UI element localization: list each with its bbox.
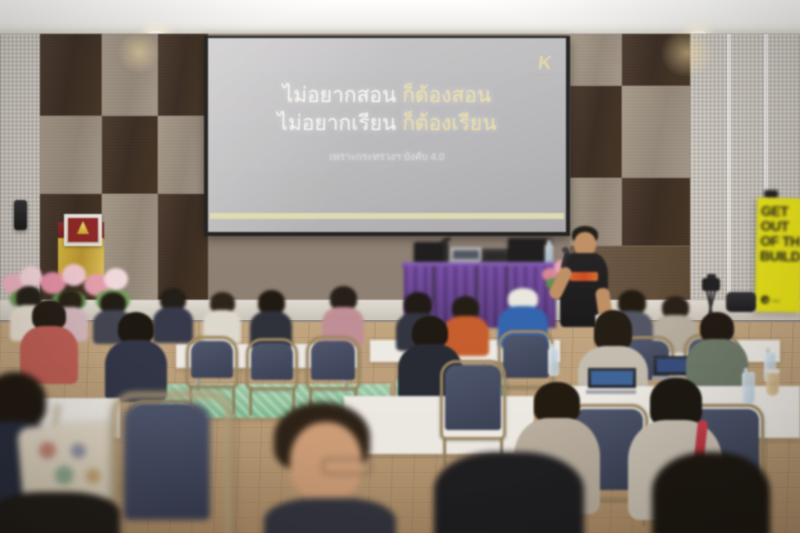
- wall-wood-panel: [158, 194, 208, 300]
- stage-monitor-left: [414, 242, 448, 264]
- wall-wood-panel: [40, 116, 102, 194]
- wall-wood-panel: [622, 178, 690, 246]
- banner-logo: lean: [761, 296, 781, 304]
- video-camera-icon: [702, 278, 720, 291]
- banquet-chair: [306, 336, 360, 390]
- flower: [104, 268, 128, 290]
- slide-headline-1-white: ไม่อยากสอน: [283, 84, 397, 107]
- slide-headline-2-white: ไม่อยากเรียน: [277, 112, 396, 135]
- chair-pad: [251, 343, 293, 380]
- chair-leg: [232, 386, 235, 414]
- gooseneck-mic-stand: [444, 240, 446, 264]
- wall-wood-panel: [570, 86, 622, 178]
- wall-wood-panel: [158, 34, 208, 116]
- banquet-chair: [498, 330, 554, 388]
- wall-wood-panel: [622, 86, 690, 178]
- banquet-chair: [186, 336, 238, 388]
- wall-light-glow: [118, 30, 160, 74]
- attendee-foreground-shoulder: [434, 452, 584, 533]
- attendee-hair: [700, 312, 734, 342]
- chair-pad: [503, 335, 549, 378]
- slide-headline-block: ไม่อยากสอน ก็ต้องสอน ไม่อยากเรียน ก็ต้อง…: [208, 82, 566, 138]
- laptop-lid: [450, 247, 482, 262]
- attendee-foreground-mass: [0, 492, 120, 533]
- presenter-shirt-logo: [570, 272, 598, 281]
- banquet-chair: [246, 338, 298, 390]
- wall-wood-panel: [570, 34, 622, 86]
- microphone-head: [562, 247, 569, 253]
- wall-wood-panel: [102, 116, 158, 194]
- projection-screen: K KUMPUN ไม่อยากสอน ก็ต้องสอน ไม่อยากเรี…: [208, 38, 566, 232]
- flower: [20, 266, 42, 288]
- slide-headline-line-1: ไม่อยากสอน ก็ต้องสอน: [208, 82, 566, 110]
- foreground-chair-pad: [124, 404, 210, 520]
- chair-pad: [445, 365, 501, 430]
- slide-accent-bar: [210, 213, 564, 219]
- attendee-hair-long: [594, 310, 632, 350]
- laptop-base: [586, 390, 636, 394]
- chair-leg: [443, 438, 446, 466]
- cable: [432, 266, 452, 308]
- royal-portrait-frame: [64, 214, 102, 246]
- laptop-screen: [453, 250, 479, 259]
- water-bottle: [548, 348, 559, 376]
- attendee-laptop: [588, 368, 634, 394]
- eyeglasses-icon: [322, 458, 372, 475]
- attendee-body: [264, 498, 396, 533]
- acoustic-panel-left: [0, 34, 40, 300]
- baseball-cap-icon: [508, 288, 538, 308]
- chair-pad: [191, 341, 233, 378]
- attendee-hair-long: [650, 378, 702, 426]
- wall-wood-panel: [158, 116, 208, 194]
- banner-logo-icon: [761, 296, 769, 304]
- laptop-screen: [591, 371, 633, 385]
- get-out-of-the-building-banner: GET OUT OF TH BUILD lean: [755, 198, 800, 313]
- attendee-foreground-head: [652, 452, 770, 533]
- banquet-chair: [440, 360, 506, 440]
- laptop-screen: [485, 252, 505, 259]
- banner-line-4: BUILD: [760, 249, 800, 265]
- slide-headline-line-2: ไม่อยากเรียน ก็ต้องเรียน: [208, 110, 566, 138]
- flower: [62, 264, 86, 286]
- chair-pad: [311, 341, 355, 380]
- attendee-hair-long: [534, 382, 580, 422]
- acoustic-panel-seam: [727, 34, 731, 300]
- slide-headline-2-gold: ก็ต้องเรียน: [402, 112, 496, 135]
- chair-leg: [249, 388, 252, 416]
- seminar-room-photo: K KUMPUN ไม่อยากสอน ก็ต้องสอน ไม่อยากเรี…: [0, 0, 800, 533]
- water-bottle: [742, 372, 755, 404]
- camera-bag: [726, 292, 756, 312]
- slide-headline-1-gold: ก็ต้องสอน: [402, 84, 491, 107]
- iced-drink-cup: [766, 372, 779, 396]
- laptop-lid: [588, 368, 636, 388]
- slide-subtitle: เพราะกระทรวงฯ บังคับ 4.0: [208, 150, 566, 165]
- wall-light-glow: [660, 28, 714, 78]
- cable: [476, 266, 500, 318]
- banner-logo-text: lean: [772, 297, 780, 302]
- slide-brand-logo-subtext: KUMPUN: [532, 72, 552, 77]
- wall-wood-panel: [40, 34, 102, 116]
- wall-loudspeaker-icon: [14, 200, 27, 230]
